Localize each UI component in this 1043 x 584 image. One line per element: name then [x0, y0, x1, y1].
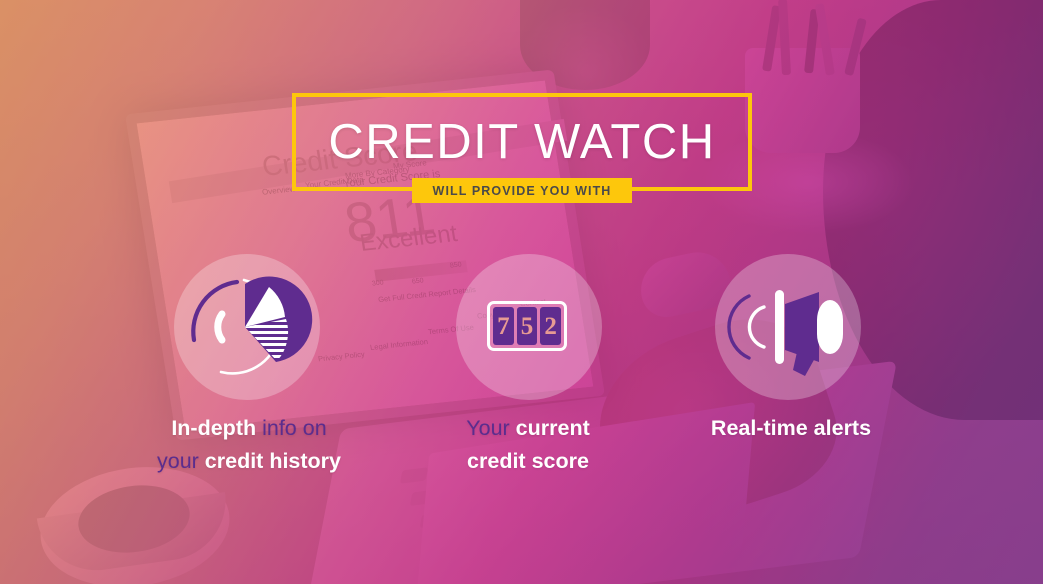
caption-bold: current [516, 416, 590, 440]
score-digit: 5 [517, 307, 538, 345]
score-counter-icon: 7 5 2 [487, 301, 567, 351]
feature-caption-current-score: Your current credit score [412, 412, 644, 478]
feature-caption-in-depth-history: In-depth info on your credit history [118, 412, 380, 478]
feature-caption-real-time-alerts: Real-time alerts [672, 412, 910, 445]
megaphone-icon [735, 278, 847, 376]
caption-bold: credit score [467, 449, 589, 473]
caption-bold: credit history [205, 449, 341, 473]
page-title: CREDIT WATCH [292, 93, 752, 191]
caption-light: info on [256, 416, 327, 440]
caption-bold: Real-time alerts [711, 416, 871, 440]
subtitle-banner: WILL PROVIDE YOU WITH [412, 178, 632, 203]
caption-bold: In-depth [171, 416, 256, 440]
score-digit: 7 [493, 307, 514, 345]
pie-chart-icon [182, 262, 312, 392]
slide-canvas: Credit Score Your Credit Score is 811 Ex… [0, 0, 1043, 584]
caption-light: your [157, 449, 205, 473]
score-digit: 2 [540, 307, 561, 345]
caption-light: Your [466, 416, 515, 440]
